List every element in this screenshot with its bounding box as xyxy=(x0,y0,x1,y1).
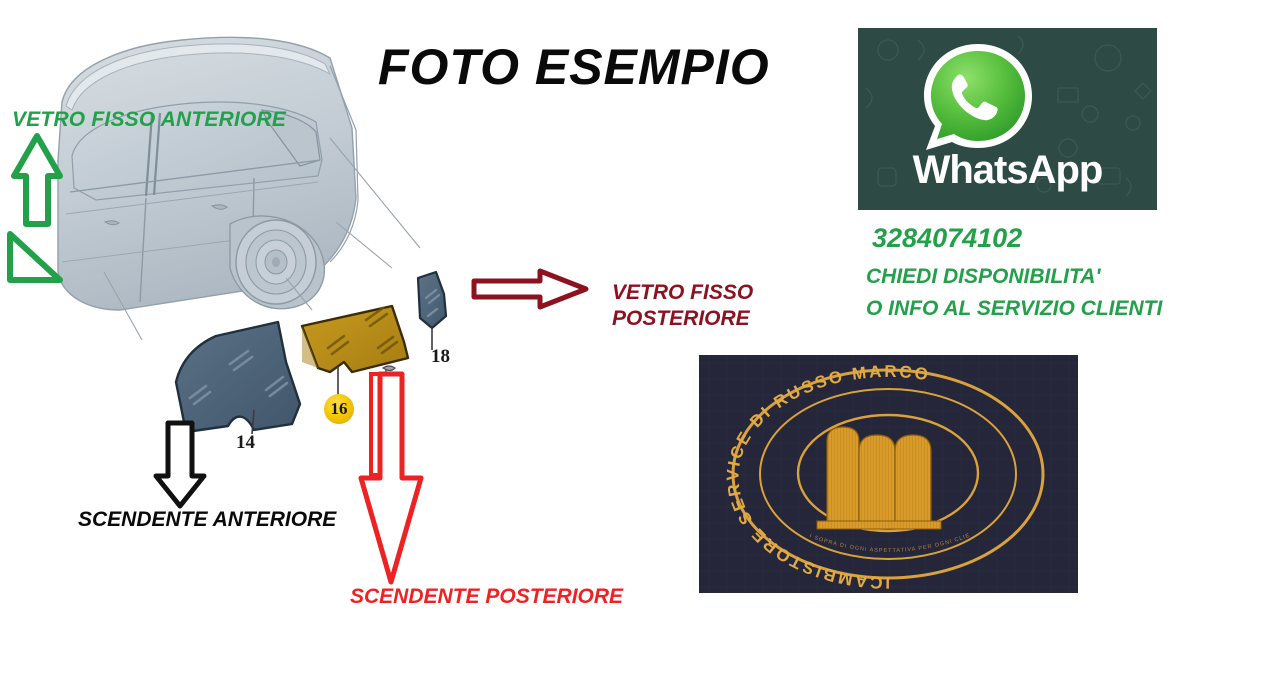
up-arrow-green-icon xyxy=(4,128,68,288)
shop-logo-monogram xyxy=(817,427,941,529)
part-18-quarter-glass xyxy=(418,272,446,350)
right-arrow-darkred-icon xyxy=(470,268,590,310)
whatsapp-wordmark: WhatsApp xyxy=(858,148,1157,193)
whatsapp-phone-number: 3284074102 xyxy=(872,223,1022,254)
label-vetro-fisso-posteriore-line1: VETRO FISSO xyxy=(612,280,753,306)
whatsapp-note-line2: O INFO AL SERVIZIO CLIENTI xyxy=(866,297,1162,321)
label-scendente-anteriore: SCENDENTE ANTERIORE xyxy=(78,508,336,532)
car-body-illustration xyxy=(58,37,358,310)
down-arrow-red-icon xyxy=(355,370,427,588)
part-number-16-badge: 16 xyxy=(324,394,354,424)
label-vetro-fisso-posteriore-line2: POSTERIORE xyxy=(612,306,753,332)
whatsapp-note-line1: CHIEDI DISPONIBILITA' xyxy=(866,265,1100,289)
label-vetro-fisso-anteriore: VETRO FISSO ANTERIORE xyxy=(12,108,286,132)
shop-logo-emblem: MRICAMBISTORE SERVICE DI RUSSO MARCO AL … xyxy=(699,355,1078,593)
down-arrow-black-icon xyxy=(152,418,208,510)
part-number-14: 14 xyxy=(236,432,255,454)
label-scendente-posteriore: SCENDENTE POSTERIORE xyxy=(350,585,623,609)
label-vetro-fisso-posteriore: VETRO FISSO POSTERIORE xyxy=(612,280,753,332)
shop-logo-image: MRICAMBISTORE SERVICE DI RUSSO MARCO AL … xyxy=(699,355,1078,593)
whatsapp-logo-icon xyxy=(918,38,1038,158)
screenshot-canvas: 14 18 17 16 FOTO ESEMPIO VETRO FISSO ANT… xyxy=(0,0,1264,678)
whatsapp-banner: WhatsApp xyxy=(858,28,1157,210)
part-number-18: 18 xyxy=(431,346,450,368)
page-title: FOTO ESEMPIO xyxy=(378,38,770,96)
